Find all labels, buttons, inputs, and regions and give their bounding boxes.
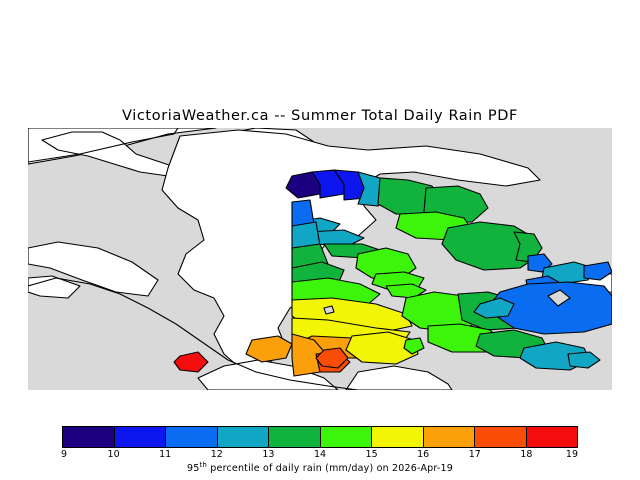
map-canvas[interactable] bbox=[28, 128, 612, 390]
colorbar-caption: 95th percentile of daily rain (mm/day) o… bbox=[0, 461, 640, 474]
colorbar-band-9-10[interactable] bbox=[63, 427, 115, 447]
colorbar-band-17-18[interactable] bbox=[475, 427, 527, 447]
colorbar-tick-10: 10 bbox=[108, 449, 120, 460]
colorbar-tick-11: 11 bbox=[159, 449, 171, 460]
colorbar-tick-13: 13 bbox=[262, 449, 274, 460]
colorbar-band-13-14[interactable] bbox=[269, 427, 321, 447]
caption-suffix: percentile of daily rain (mm/day) on 202… bbox=[207, 463, 453, 474]
colorbar-band-14-15[interactable] bbox=[321, 427, 373, 447]
map-panel[interactable] bbox=[28, 128, 612, 390]
data-patch-hole-yellow bbox=[324, 306, 334, 314]
colorbar-band-12-13[interactable] bbox=[218, 427, 270, 447]
colorbar-band-18-19[interactable] bbox=[527, 427, 578, 447]
colorbar-tick-9: 9 bbox=[61, 449, 67, 460]
colorbar-tick-17: 17 bbox=[469, 449, 481, 460]
colorbar-tick-18: 18 bbox=[520, 449, 532, 460]
caption-prefix: 95 bbox=[187, 463, 200, 474]
colorbar-band-10-11[interactable] bbox=[115, 427, 167, 447]
colorbar[interactable] bbox=[62, 426, 578, 448]
colorbar-tick-15: 15 bbox=[366, 449, 378, 460]
colorbar-tick-14: 14 bbox=[314, 449, 326, 460]
caption-superscript: th bbox=[199, 461, 207, 469]
colorbar-tick-16: 16 bbox=[417, 449, 429, 460]
colorbar-band-16-17[interactable] bbox=[424, 427, 476, 447]
colorbar-band-11-12[interactable] bbox=[166, 427, 218, 447]
colorbar-tick-19: 19 bbox=[566, 449, 578, 460]
figure-title: VictoriaWeather.ca -- Summer Total Daily… bbox=[0, 108, 640, 124]
weather-map-figure: VictoriaWeather.ca -- Summer Total Daily… bbox=[0, 0, 640, 480]
colorbar-band-15-16[interactable] bbox=[372, 427, 424, 447]
colorbar-tick-12: 12 bbox=[211, 449, 223, 460]
